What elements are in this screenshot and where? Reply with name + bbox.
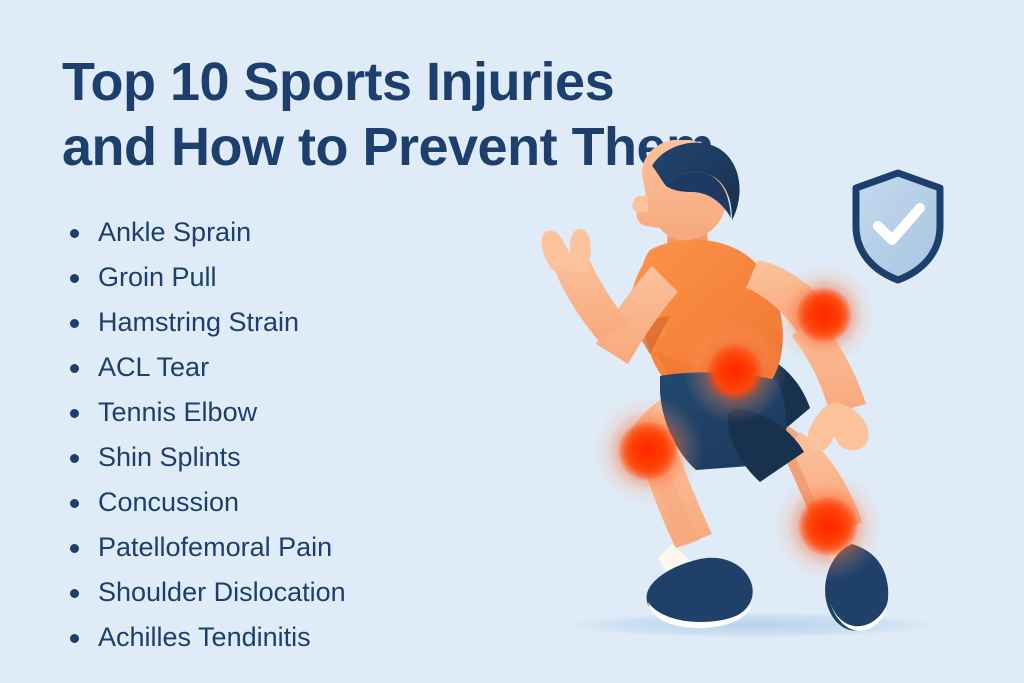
list-item: Hamstring Strain xyxy=(64,300,494,345)
list-item: Concussion xyxy=(64,480,494,525)
bullet-icon xyxy=(70,634,79,643)
list-item-label: Shoulder Dislocation xyxy=(98,577,346,607)
bullet-icon xyxy=(70,229,79,238)
list-item-label: Ankle Sprain xyxy=(98,217,251,247)
list-item: Tennis Elbow xyxy=(64,390,494,435)
list-item: Ankle Sprain xyxy=(64,210,494,255)
list-item: Shoulder Dislocation xyxy=(64,570,494,615)
bullet-icon xyxy=(70,364,79,373)
list-item-label: Achilles Tendinitis xyxy=(98,622,311,652)
injury-list: Ankle Sprain Groin Pull Hamstring Strain… xyxy=(64,210,494,660)
list-item: Groin Pull xyxy=(64,255,494,300)
bullet-icon xyxy=(70,454,79,463)
list-item-label: Concussion xyxy=(98,487,239,517)
illustration-area xyxy=(500,140,1024,683)
infographic-canvas: Top 10 Sports Injuries and How to Preven… xyxy=(0,0,1024,683)
running-man-illustration xyxy=(500,140,1024,683)
list-item-label: Tennis Elbow xyxy=(98,397,257,427)
list-item-label: Shin Splints xyxy=(98,442,241,472)
list-item: Patellofemoral Pain xyxy=(64,525,494,570)
list-item-label: Patellofemoral Pain xyxy=(98,532,332,562)
bullet-icon xyxy=(70,409,79,418)
bullet-icon xyxy=(70,499,79,508)
list-item: ACL Tear xyxy=(64,345,494,390)
list-item: Achilles Tendinitis xyxy=(64,615,494,660)
title-line-1: Top 10 Sports Injuries xyxy=(62,50,862,115)
list-item-label: Groin Pull xyxy=(98,262,217,292)
list-item: Shin Splints xyxy=(64,435,494,480)
bullet-icon xyxy=(70,319,79,328)
list-item-label: Hamstring Strain xyxy=(98,307,299,337)
list-item-label: ACL Tear xyxy=(98,352,209,382)
bullet-icon xyxy=(70,274,79,283)
bullet-icon xyxy=(70,589,79,598)
ground-shadow xyxy=(547,611,957,639)
bullet-icon xyxy=(70,544,79,553)
